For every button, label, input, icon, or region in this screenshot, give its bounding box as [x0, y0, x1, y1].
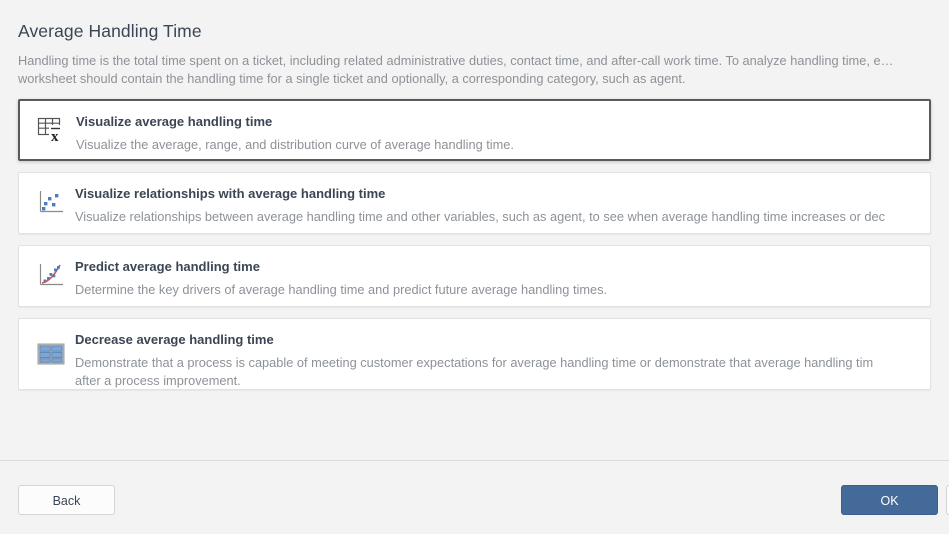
option-card-description-line-1: Visualize the average, range, and distri…: [76, 137, 514, 152]
option-card-description-line-1: Determine the key drivers of average han…: [75, 282, 607, 297]
option-card-description: Demonstrate that a process is capable of…: [75, 354, 922, 390]
option-card-visualize-average-handling-time[interactable]: x Visualize average handling time Visual…: [18, 99, 931, 161]
option-card-description: Visualize the average, range, and distri…: [76, 136, 921, 154]
option-card-decrease-average-handling-time[interactable]: Decrease average handling time Demonstra…: [18, 318, 931, 390]
average-handling-time-dialog: Average Handling Time Handling time is t…: [0, 0, 949, 534]
option-card-description-line-2: after a process improvement.: [75, 372, 922, 390]
option-card-text: Decrease average handling time Demonstra…: [75, 319, 930, 402]
option-card-title: Visualize average handling time: [76, 113, 921, 131]
table-xbar-icon: x: [20, 116, 76, 144]
option-card-description-line-1: Demonstrate that a process is capable of…: [75, 355, 873, 370]
option-card-text: Visualize relationships with average han…: [75, 173, 930, 238]
svg-text:x: x: [51, 129, 59, 144]
option-card-title: Predict average handling time: [75, 258, 922, 276]
option-card-title: Visualize relationships with average han…: [75, 185, 922, 203]
blue-grid-icon: [19, 341, 75, 367]
dialog-header: Average Handling Time Handling time is t…: [0, 0, 949, 88]
page-description: Handling time is the total time spent on…: [18, 52, 931, 88]
back-button[interactable]: Back: [18, 485, 115, 515]
option-card-description-line-1: Visualize relationships between average …: [75, 209, 885, 224]
option-card-title: Decrease average handling time: [75, 331, 922, 349]
option-card-list: x Visualize average handling time Visual…: [0, 88, 949, 460]
option-card-visualize-relationships-with-average-handling-time[interactable]: Visualize relationships with average han…: [18, 172, 931, 234]
page-description-line-2: worksheet should contain the handling ti…: [18, 70, 931, 88]
option-card-text: Visualize average handling time Visualiz…: [76, 101, 929, 166]
page-title: Average Handling Time: [18, 20, 931, 42]
dialog-footer: Back OK Cancel: [0, 460, 949, 534]
option-card-description: Determine the key drivers of average han…: [75, 281, 922, 299]
page-description-line-1: Handling time is the total time spent on…: [18, 53, 893, 68]
option-card-predict-average-handling-time[interactable]: Predict average handling time Determine …: [18, 245, 931, 307]
option-card-text: Predict average handling time Determine …: [75, 246, 930, 311]
ok-button[interactable]: OK: [841, 485, 938, 515]
regression-curve-icon: [19, 262, 75, 290]
scatterplot-icon: [19, 189, 75, 217]
option-card-description: Visualize relationships between average …: [75, 208, 922, 226]
